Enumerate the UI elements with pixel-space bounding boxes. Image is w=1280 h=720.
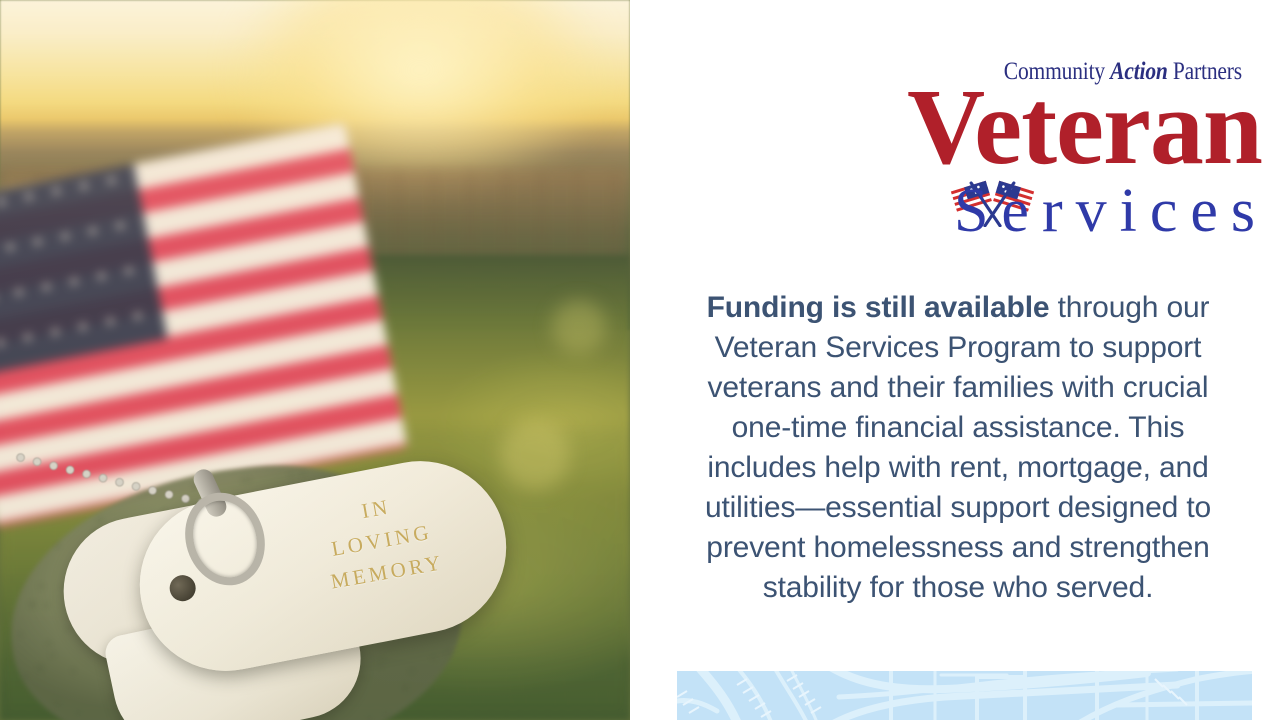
- logo-title: Veteran: [907, 74, 1262, 182]
- logo-subtitle: Services: [954, 176, 1268, 246]
- body-rest: through our Veteran Services Program to …: [705, 291, 1211, 604]
- content-panel: Community Action Partners Veteran: [630, 0, 1280, 720]
- footer-map-band: [677, 671, 1252, 720]
- body-paragraph: Funding is still available through our V…: [680, 288, 1236, 608]
- bokeh-spot: [500, 420, 570, 490]
- veteran-services-logo: Community Action Partners Veteran: [650, 48, 1270, 263]
- dog-tag-engraving: IN LOVING MEMORY: [267, 474, 495, 606]
- crossed-american-flags-icon: [705, 178, 837, 256]
- bokeh-spot: [552, 300, 606, 354]
- body-lead: Funding is still available: [707, 291, 1050, 324]
- logo-second-row: Services: [705, 174, 1270, 254]
- dog-tag-hole: [167, 573, 197, 603]
- flyer-canvas: IN LOVING MEMORY Community Action Partne…: [0, 0, 1280, 720]
- veteran-photo: IN LOVING MEMORY: [0, 0, 630, 720]
